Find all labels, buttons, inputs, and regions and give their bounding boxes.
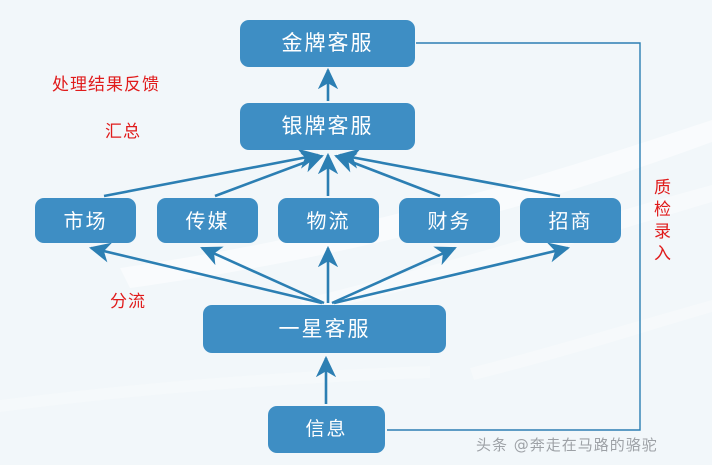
diagram-canvas: 金牌客服 银牌客服 市场 传媒 物流 财务 招商 一星客服 信息 处理结果反馈 … <box>0 0 712 465</box>
node-market[interactable]: 市场 <box>35 198 136 243</box>
node-silver-service[interactable]: 银牌客服 <box>240 103 415 150</box>
edge-invest-to-silver <box>340 155 560 196</box>
node-finance[interactable]: 财务 <box>399 198 500 243</box>
node-one-star-service[interactable]: 一星客服 <box>203 305 446 353</box>
node-investment[interactable]: 招商 <box>520 198 621 243</box>
edge-finance-to-silver <box>336 156 440 196</box>
node-gold-service[interactable]: 金牌客服 <box>240 20 415 67</box>
edge-onestar-to-media <box>202 248 324 303</box>
edge-market-to-silver <box>104 155 318 196</box>
edge-onestar-to-finance <box>332 248 455 303</box>
edge-onestar-to-invest <box>334 248 568 303</box>
node-information[interactable]: 信息 <box>268 406 385 453</box>
annotation-summary: 汇总 <box>105 117 141 142</box>
watermark: 头条 @奔走在马路的骆驼 <box>476 434 658 455</box>
annotation-feedback: 处理结果反馈 <box>52 70 160 95</box>
annotation-distribute: 分流 <box>110 287 146 312</box>
node-media[interactable]: 传媒 <box>157 198 258 243</box>
edge-media-to-silver <box>215 156 322 196</box>
node-logistics[interactable]: 物流 <box>278 198 379 243</box>
annotation-quality-entry: 质检录入 <box>651 178 668 266</box>
